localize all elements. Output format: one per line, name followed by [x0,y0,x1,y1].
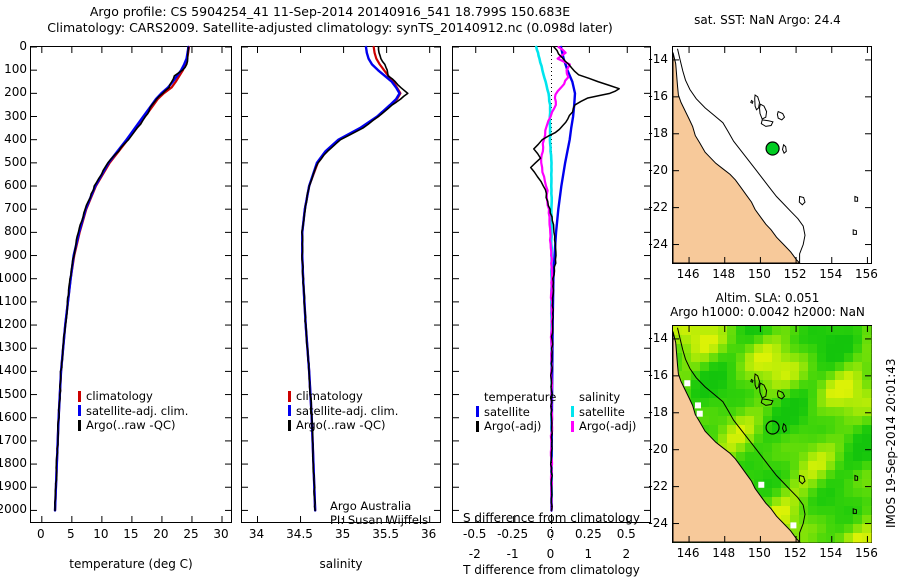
depth-tick-1700: 1700 [0,434,27,446]
difference-bottom-axis-label: T difference from climatology [452,564,651,577]
depth-tick-900: 900 [4,249,27,261]
sst-map-panel[interactable] [672,46,872,264]
depth-tick-1900: 1900 [0,480,27,492]
argo-credit-line2: PI: Susan Wijffels [330,513,428,527]
legend-swatch-temp-argo-adj [476,421,479,432]
salinity-xtick-35.5: 35.5 [372,528,399,540]
legend-swatch-satellite-adj-clim [78,405,81,416]
depth-tick-1500: 1500 [0,388,27,400]
legend-item-argo-raw-qc: Argo(..raw -QC) [78,418,188,433]
zero-reference-extension [551,523,552,543]
difference-top-xtick-0.5: 0.5 [617,528,636,540]
difference-bottom-xtick-2: 2 [622,548,630,560]
depth-tick-1300: 1300 [0,341,27,353]
depth-tick-1100: 1100 [0,295,27,307]
depth-tick-1600: 1600 [0,411,27,423]
salinity-profile-plot [242,47,440,522]
legend-label-salt-argo-adj: Argo(-adj) [579,419,636,434]
map-xtick-148: 148 [712,547,735,559]
difference-top-xtick--0.5: -0.5 [463,528,486,540]
legend-item-temp-argo-adj: Argo(-adj) [476,419,556,434]
difference-bottom-xtick-0: 0 [547,548,555,560]
argo-credit-line1: Argo Australia [330,499,428,513]
map-ytick--20: -20 [648,164,668,176]
map-ytick--14: -14 [648,332,668,344]
temperature-axis-label: temperature (deg C) [30,558,232,571]
map-xtick-156: 156 [855,268,878,280]
map-ytick--16: -16 [648,90,668,102]
legend-swatch-satellite-adj-clim-salt [288,405,291,416]
legend-swatch-salt-satellite [571,406,574,417]
temperature-xtick-25: 25 [183,528,198,540]
map-xtick-152: 152 [784,547,807,559]
salinity-legend: climatology satellite-adj. clim. Argo(..… [288,389,398,433]
depth-tick-2000: 2000 [0,503,27,515]
difference-bottom-xtick--1: -1 [507,548,519,560]
depth-tick-600: 600 [4,179,27,191]
legend-item-salt-satellite: satellite [571,405,636,420]
depth-tick-1000: 1000 [0,272,27,284]
depth-tick-200: 200 [4,86,27,98]
map-ytick--22: -22 [648,201,668,213]
map-ytick--14: -14 [648,53,668,65]
legend-label-climatology-salt: climatology [296,389,363,404]
salinity-xtick-34: 34 [249,528,264,540]
legend-item-climatology-salt: climatology [288,389,398,404]
map-ytick--18: -18 [648,127,668,139]
figure-title-line2: Climatology: CARS2009. Satellite-adjuste… [0,20,660,36]
difference-profile-plot [453,47,650,522]
sst-map-plot [673,47,871,263]
legend-label-temp-argo-adj: Argo(-adj) [484,419,541,434]
legend-swatch-climatology [78,391,81,402]
legend-item-temp-satellite: satellite [476,405,556,420]
map-ytick--24: -24 [648,238,668,250]
map-ytick--16: -16 [648,369,668,381]
legend-item-climatology: climatology [78,389,188,404]
difference-top-xtick-0.25: 0.25 [575,528,602,540]
map-xtick-150: 150 [748,268,771,280]
temperature-xtick-0: 0 [37,528,45,540]
temperature-xtick-15: 15 [123,528,138,540]
legend-swatch-climatology-salt [288,391,291,402]
map-xtick-154: 154 [819,268,842,280]
sla-map-panel[interactable] [672,325,872,543]
legend-item-satellite-adj-clim: satellite-adj. clim. [78,404,188,419]
legend-swatch-argo-raw-qc [78,420,81,431]
salinity-axis-label: salinity [241,558,441,571]
difference-legend-temperature: temperature satellite Argo(-adj) [476,390,556,434]
sla-map-title-line2: Argo h1000: 0.0042 h2000: NaN [660,305,875,319]
figure-title: Argo profile: CS 5904254_41 11-Sep-2014 … [0,4,660,36]
imos-timestamp: IMOS 19-Sep-2014 20:01:43 [884,358,898,528]
salinity-xtick-35: 35 [335,528,350,540]
sst-map-title: sat. SST: NaN Argo: 24.4 [660,13,875,27]
map-ytick--18: -18 [648,406,668,418]
legend-swatch-argo-raw-qc-salt [288,420,291,431]
difference-legend-salinity: salinity satellite Argo(-adj) [571,390,636,434]
salinity-xtick-34.5: 34.5 [286,528,313,540]
legend-label-satellite-adj-clim-salt: satellite-adj. clim. [296,404,398,419]
sla-map-title: Altim. SLA: 0.051 Argo h1000: 0.0042 h20… [660,291,875,319]
difference-top-axis-label: S difference from climatology [452,512,651,525]
depth-tick-100: 100 [4,63,27,75]
figure-title-line1: Argo profile: CS 5904254_41 11-Sep-2014 … [0,4,660,20]
difference-profile-panel[interactable] [452,46,651,523]
legend-header-temperature: temperature [476,390,556,405]
legend-item-argo-raw-qc-salt: Argo(..raw -QC) [288,418,398,433]
difference-bottom-xtick--2: -2 [469,548,481,560]
legend-swatch-temp-satellite [476,406,479,417]
depth-tick-300: 300 [4,110,27,122]
legend-label-climatology: climatology [86,389,153,404]
difference-top-xtick--0.25: -0.25 [497,528,528,540]
legend-item-satellite-adj-clim-salt: satellite-adj. clim. [288,404,398,419]
temperature-profile-plot [31,47,231,522]
zero-reference-extension-legend [551,386,552,526]
depth-tick-800: 800 [4,225,27,237]
argo-credit: Argo Australia PI: Susan Wijffels [330,499,428,527]
legend-header-salinity-label: salinity [579,390,620,405]
depth-tick-1800: 1800 [0,457,27,469]
depth-tick-400: 400 [4,133,27,145]
salinity-xtick-36: 36 [421,528,436,540]
legend-label-argo-raw-qc-salt: Argo(..raw -QC) [296,418,386,433]
temperature-legend: climatology satellite-adj. clim. Argo(..… [78,389,188,433]
map-xtick-150: 150 [748,547,771,559]
map-xtick-148: 148 [712,268,735,280]
legend-header-salinity: salinity [571,390,636,405]
depth-tick-500: 500 [4,156,27,168]
temperature-xtick-5: 5 [67,528,75,540]
legend-header-temperature-label: temperature [484,390,556,405]
salinity-profile-panel[interactable] [241,46,441,523]
temperature-xtick-30: 30 [213,528,228,540]
legend-item-salt-argo-adj: Argo(-adj) [571,419,636,434]
map-xtick-154: 154 [819,547,842,559]
map-xtick-156: 156 [855,547,878,559]
temperature-xtick-10: 10 [93,528,108,540]
legend-label-salt-satellite: satellite [579,405,625,420]
depth-tick-1200: 1200 [0,318,27,330]
map-xtick-146: 146 [677,268,700,280]
sla-map-plot [673,326,871,542]
legend-swatch-salt-argo-adj [571,421,574,432]
map-xtick-146: 146 [677,547,700,559]
legend-label-temp-satellite: satellite [484,405,530,420]
temperature-profile-panel[interactable] [30,46,232,523]
map-ytick--24: -24 [648,517,668,529]
temperature-xtick-20: 20 [153,528,168,540]
map-ytick--20: -20 [648,443,668,455]
depth-tick-700: 700 [4,202,27,214]
legend-label-satellite-adj-clim: satellite-adj. clim. [86,404,188,419]
depth-tick-0: 0 [19,40,27,52]
depth-tick-1400: 1400 [0,364,27,376]
map-ytick--22: -22 [648,480,668,492]
difference-bottom-xtick-1: 1 [585,548,593,560]
map-xtick-152: 152 [784,268,807,280]
legend-label-argo-raw-qc: Argo(..raw -QC) [86,418,176,433]
sla-map-title-line1: Altim. SLA: 0.051 [660,291,875,305]
